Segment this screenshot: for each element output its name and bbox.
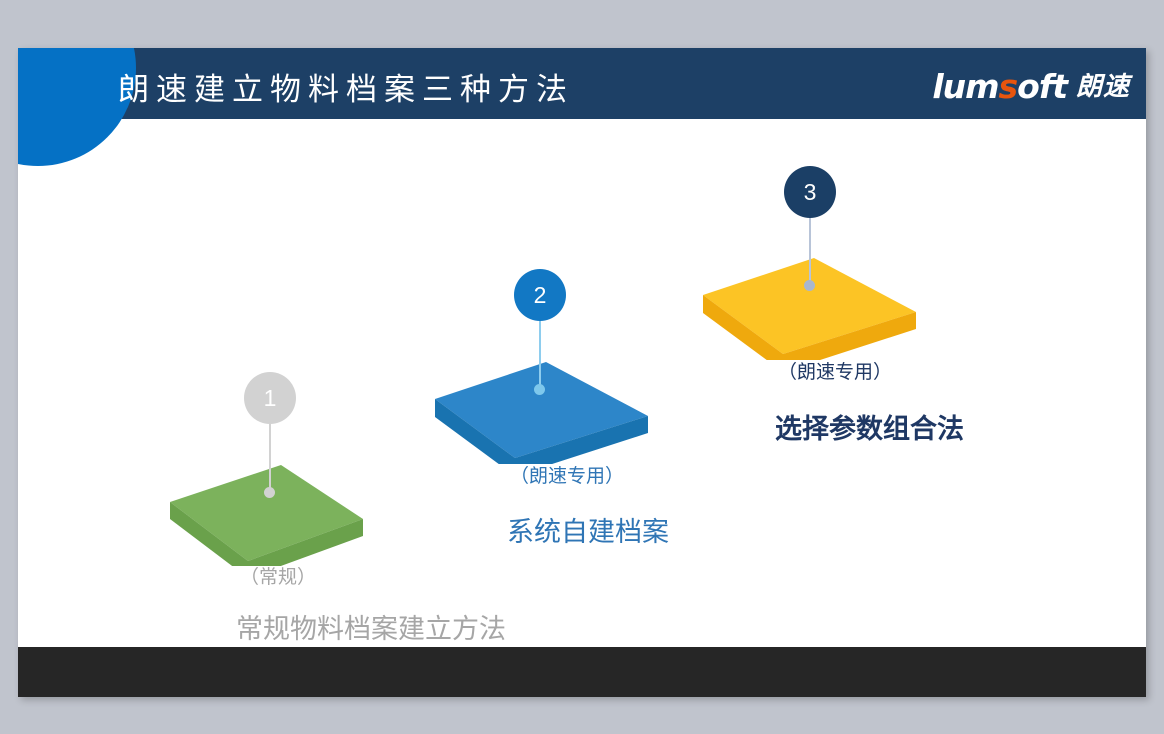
slide-body: 1 （常规） 常规物料档案建立方法 2 bbox=[18, 119, 1146, 647]
page-title: 朗速建立物料档案三种方法 bbox=[118, 64, 574, 109]
step-marker-1[interactable]: 1 bbox=[244, 372, 296, 424]
logo-text-oft: oft bbox=[1017, 67, 1067, 106]
step-sub-label-3: （朗速专用） bbox=[778, 357, 892, 384]
step-dot-2 bbox=[534, 384, 545, 395]
slab-shape-2 bbox=[417, 359, 652, 464]
step-main-label-3: 选择参数组合法 bbox=[775, 407, 964, 446]
platform-slab-1 bbox=[149, 461, 364, 561]
step-marker-3[interactable]: 3 bbox=[784, 166, 836, 218]
step-marker-2[interactable]: 2 bbox=[514, 269, 566, 321]
step-number-2: 2 bbox=[534, 282, 547, 308]
slab-top-face-2 bbox=[435, 362, 648, 458]
step-number-3: 3 bbox=[804, 179, 817, 205]
presentation-slide: 朗速建立物料档案三种方法 lumsoft朗速 1 bbox=[18, 48, 1146, 697]
step-main-label-2: 系统自建档案 bbox=[507, 510, 669, 549]
logo-text-lum: lum bbox=[932, 67, 998, 106]
step-sub-label-2: （朗速专用） bbox=[510, 461, 624, 488]
slide-footer-band bbox=[18, 647, 1146, 697]
step-stem-2 bbox=[539, 321, 541, 389]
step-dot-1 bbox=[264, 487, 275, 498]
step-stem-1 bbox=[269, 424, 271, 492]
logo-text-s: s bbox=[999, 67, 1018, 106]
step-main-label-1: 常规物料档案建立方法 bbox=[236, 607, 506, 646]
step-sub-label-1: （常规） bbox=[240, 562, 316, 589]
screenshot-stage: 朗速建立物料档案三种方法 lumsoft朗速 1 bbox=[0, 0, 1164, 734]
slab-shape-3 bbox=[685, 255, 920, 360]
step-number-1: 1 bbox=[264, 385, 277, 411]
logo-text-chinese: 朗速 bbox=[1076, 72, 1130, 102]
lumsoft-logo: lumsoft朗速 bbox=[932, 67, 1130, 106]
slab-top-face-1 bbox=[170, 465, 363, 561]
step-stem-3 bbox=[809, 217, 811, 285]
platform-slab-2 bbox=[417, 359, 632, 459]
slab-shape-1 bbox=[149, 461, 364, 566]
platform-slab-3 bbox=[685, 255, 900, 355]
step-dot-3 bbox=[804, 280, 815, 291]
